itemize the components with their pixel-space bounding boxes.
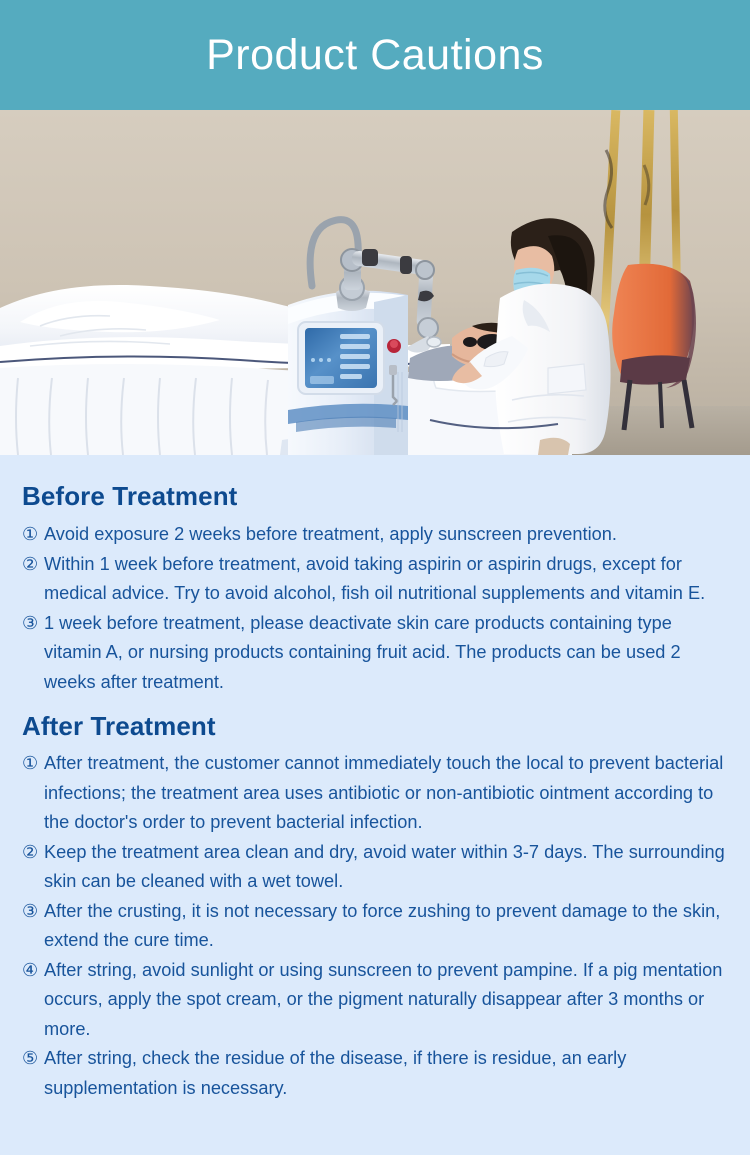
- section-heading-before: Before Treatment: [22, 481, 728, 512]
- list-marker-icon: ③: [22, 609, 44, 639]
- cautions-content: Before Treatment ① Avoid exposure 2 week…: [0, 455, 750, 1113]
- list-item: ③ 1 week before treatment, please deacti…: [22, 609, 728, 698]
- list-marker-icon: ②: [22, 550, 44, 580]
- list-item-text: 1 week before treatment, please deactiva…: [44, 609, 728, 698]
- header-banner: Product Cautions: [0, 0, 750, 110]
- list-marker-icon: ②: [22, 838, 44, 868]
- list-item-text: Avoid exposure 2 weeks before treatment,…: [44, 520, 728, 550]
- list-marker-icon: ③: [22, 897, 44, 927]
- list-item-text: Keep the treatment area clean and dry, a…: [44, 838, 728, 897]
- list-item: ④ After string, avoid sunlight or using …: [22, 956, 728, 1045]
- list-item: ① After treatment, the customer cannot i…: [22, 749, 728, 838]
- page-title: Product Cautions: [206, 34, 544, 77]
- list-item-text: After the crusting, it is not necessary …: [44, 897, 728, 956]
- list-item-text: After treatment, the customer cannot imm…: [44, 749, 728, 838]
- list-item-text: After string, avoid sunlight or using su…: [44, 956, 728, 1045]
- list-item-text: After string, check the residue of the d…: [44, 1044, 728, 1103]
- treatment-photo: al Co2 Laser: [0, 110, 750, 455]
- list-item: ① Avoid exposure 2 weeks before treatmen…: [22, 520, 728, 550]
- list-marker-icon: ⑤: [22, 1044, 44, 1074]
- section-before-treatment: Before Treatment ① Avoid exposure 2 week…: [22, 481, 728, 697]
- list-item-text: Within 1 week before treatment, avoid ta…: [44, 550, 728, 609]
- after-treatment-list: ① After treatment, the customer cannot i…: [22, 749, 728, 1103]
- list-marker-icon: ①: [22, 520, 44, 550]
- list-item: ② Keep the treatment area clean and dry,…: [22, 838, 728, 897]
- section-after-treatment: After Treatment ① After treatment, the c…: [22, 711, 728, 1103]
- list-item: ⑤ After string, check the residue of the…: [22, 1044, 728, 1103]
- list-item: ③ After the crusting, it is not necessar…: [22, 897, 728, 956]
- before-treatment-list: ① Avoid exposure 2 weeks before treatmen…: [22, 520, 728, 697]
- product-cautions-page: Product Cautions: [0, 0, 750, 1155]
- list-item: ② Within 1 week before treatment, avoid …: [22, 550, 728, 609]
- list-marker-icon: ④: [22, 956, 44, 986]
- section-heading-after: After Treatment: [22, 711, 728, 742]
- list-marker-icon: ①: [22, 749, 44, 779]
